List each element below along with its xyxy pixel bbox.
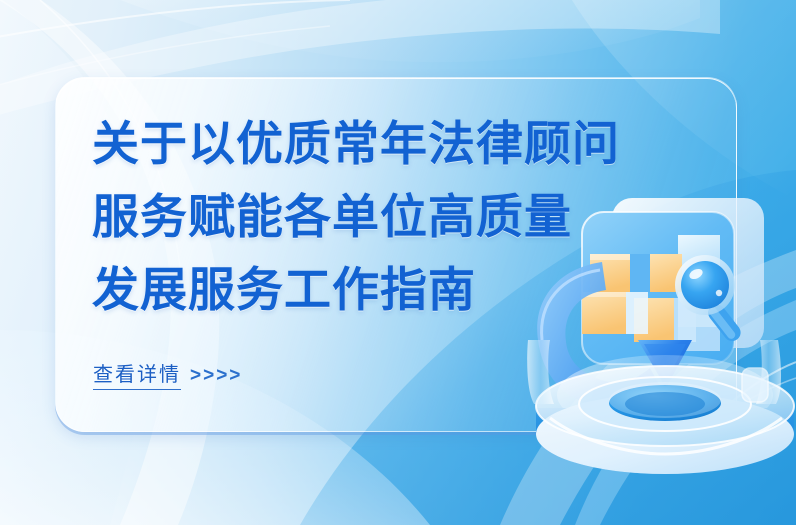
chevron-right-icon: >>>> — [190, 365, 242, 387]
promo-banner: 关于以优质常年法律顾问 服务赋能各单位高质量 发展服务工作指南 查看详情 >>>… — [0, 0, 796, 525]
view-details-link[interactable]: 查看详情 >>>> — [93, 358, 242, 390]
headline-line-3: 发展服务工作指南 — [92, 254, 672, 327]
headline-line-1: 关于以优质常年法律顾问 — [92, 108, 672, 181]
headline-line-2: 服务赋能各单位高质量 — [92, 181, 672, 254]
page-title: 关于以优质常年法律顾问 服务赋能各单位高质量 发展服务工作指南 — [92, 108, 672, 327]
view-details-label: 查看详情 — [93, 358, 181, 390]
